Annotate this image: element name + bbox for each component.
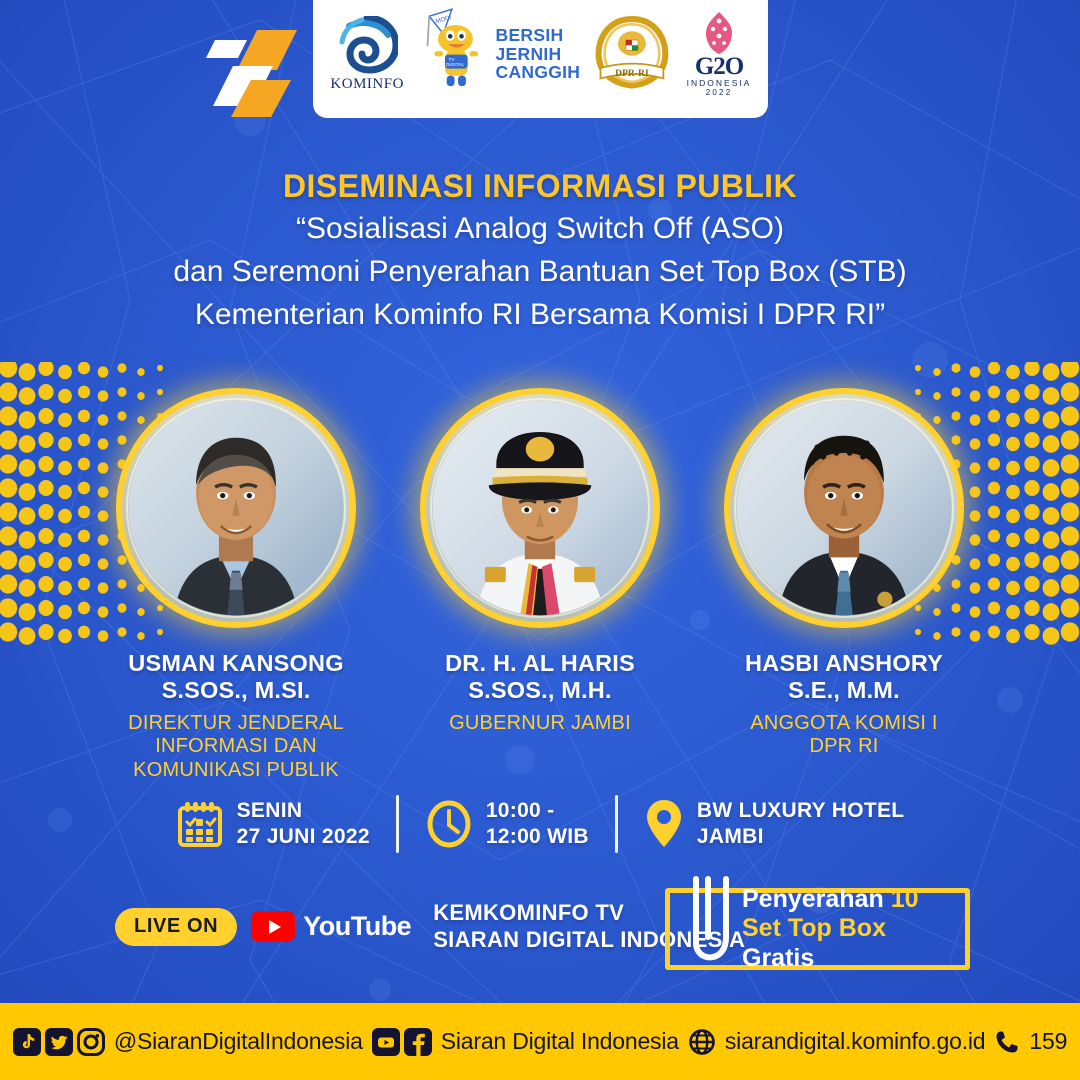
stb-line-2: Set Top Box Gratis <box>742 914 965 973</box>
youtube-icon[interactable] <box>372 1028 400 1056</box>
portrait-al-haris <box>426 394 654 622</box>
event-date: SENIN27 JUNI 2022 <box>176 798 370 849</box>
paperclip-icon <box>680 871 736 981</box>
social-group-2 <box>372 1028 432 1056</box>
facebook-icon[interactable] <box>404 1028 432 1056</box>
avatar <box>116 388 356 628</box>
speaker-role: ANGGOTA KOMISI IDPR RI <box>750 712 937 759</box>
stb-line1-a: Penyerahan <box>742 885 891 913</box>
event-date-text: SENIN27 JUNI 2022 <box>237 798 370 849</box>
speaker-role: DIREKTUR JENDERALINFORMASI DANKOMUNIKASI… <box>128 712 344 783</box>
social-group-1 <box>13 1028 105 1056</box>
stb-line-1: Penyerahan 10 <box>742 885 965 915</box>
twitter-icon[interactable] <box>45 1028 73 1056</box>
title-subline-2: dan Seremoni Penyerahan Bantuan Set Top … <box>0 252 1080 291</box>
tagline-bersih-jernih-canggih: BERSIH JERNIH CANGGIH <box>496 26 581 83</box>
avatar <box>420 388 660 628</box>
speaker-card: DR. H. AL HARISS.SOS., M.H. GUBERNUR JAM… <box>407 388 673 782</box>
avatar <box>724 388 964 628</box>
poster-title-block: DISEMINASI INFORMASI PUBLIK “Sosialisasi… <box>0 168 1080 334</box>
portrait-usman-kansong <box>122 394 350 622</box>
footer-bar: @SiaranDigitalIndonesia Siaran Digital I… <box>0 1003 1080 1080</box>
kominfo-logo: KOMINFO <box>327 16 407 93</box>
stb-giveaway-box: Penyerahan 10 Set Top Box Gratis <box>665 888 970 970</box>
event-time: 10:00 -12:00 WIB <box>425 798 589 849</box>
instagram-icon[interactable] <box>77 1028 105 1056</box>
decorative-stripes <box>205 18 315 118</box>
live-on-badge: LIVE ON <box>115 908 237 946</box>
title-subline-3: Kementerian Kominfo RI Bersama Komisi I … <box>0 295 1080 334</box>
g20-ornament-icon <box>696 11 742 55</box>
tiktok-icon[interactable] <box>13 1028 41 1056</box>
stb-giveaway-text: Penyerahan 10 Set Top Box Gratis <box>742 885 965 974</box>
modi-mascot-icon: MODI TV DIGITAL <box>417 4 485 104</box>
website-url[interactable]: siarandigital.kominfo.go.id <box>725 1028 986 1055</box>
event-time-text: 10:00 -12:00 WIB <box>486 798 589 849</box>
speaker-list: USMAN KANSONGS.SOS., M.SI. DIREKTUR JEND… <box>0 388 1080 782</box>
page-title: DISEMINASI INFORMASI PUBLIK <box>0 168 1080 205</box>
g20-logo: G2O INDONESIA 2022 <box>684 11 754 98</box>
g20-country: INDONESIA <box>687 78 752 88</box>
location-pin-icon <box>644 798 684 850</box>
event-location-text: BW LUXURY HOTELJAMBI <box>697 798 905 849</box>
stb-line1-b: 10 <box>891 885 919 913</box>
tagline-line-3: CANGGIH <box>496 63 581 82</box>
svg-text:DIGITAL: DIGITAL <box>446 62 465 68</box>
portrait-hasbi-anshory <box>730 394 958 622</box>
title-subline-1: “Sosialisasi Analog Switch Off (ASO) <box>0 209 1080 248</box>
dpr-ri-emblem-icon: DPR-RI <box>590 8 674 100</box>
social-handle: @SiaranDigitalIndonesia <box>114 1028 363 1055</box>
tagline-line-2: JERNIH <box>496 45 581 64</box>
stb-line2-b: Gratis <box>742 944 814 972</box>
divider <box>615 795 618 853</box>
speaker-name: USMAN KANSONGS.SOS., M.SI. <box>128 650 343 704</box>
event-location: BW LUXURY HOTELJAMBI <box>644 798 905 850</box>
speaker-card: USMAN KANSONGS.SOS., M.SI. DIREKTUR JEND… <box>103 388 369 782</box>
globe-icon <box>688 1028 716 1056</box>
kominfo-wave-icon <box>336 16 398 74</box>
youtube-logo: YouTube <box>251 911 411 942</box>
youtube-wordmark: YouTube <box>303 911 411 942</box>
speaker-role: GUBERNUR JAMBI <box>449 712 631 736</box>
logo-bar: KOMINFO MODI TV DIGITAL BERSIH JERNIH CA… <box>313 0 768 118</box>
clock-icon <box>425 799 473 849</box>
event-details-row: SENIN27 JUNI 2022 10:00 -12:00 WIB BW LU… <box>0 795 1080 853</box>
g20-year: 2022 <box>706 88 733 97</box>
phone-number: 159 <box>1029 1028 1067 1055</box>
divider <box>396 795 399 853</box>
speaker-name: DR. H. AL HARISS.SOS., M.H. <box>445 650 635 704</box>
kominfo-wordmark: KOMINFO <box>330 76 404 93</box>
g20-title: G2O <box>695 55 743 79</box>
stb-line2-a: Set Top Box <box>742 914 886 942</box>
youtube-icon <box>251 911 295 942</box>
phone-icon <box>994 1029 1020 1055</box>
facebook-page-name: Siaran Digital Indonesia <box>441 1028 679 1055</box>
calendar-icon <box>176 799 224 849</box>
tagline-line-1: BERSIH <box>496 26 581 45</box>
dpr-ribbon-text: DPR-RI <box>615 68 649 79</box>
speaker-card: HASBI ANSHORYS.E., M.M. ANGGOTA KOMISI I… <box>711 388 977 782</box>
speaker-name: HASBI ANSHORYS.E., M.M. <box>745 650 943 704</box>
svg-text:TV: TV <box>449 57 456 63</box>
